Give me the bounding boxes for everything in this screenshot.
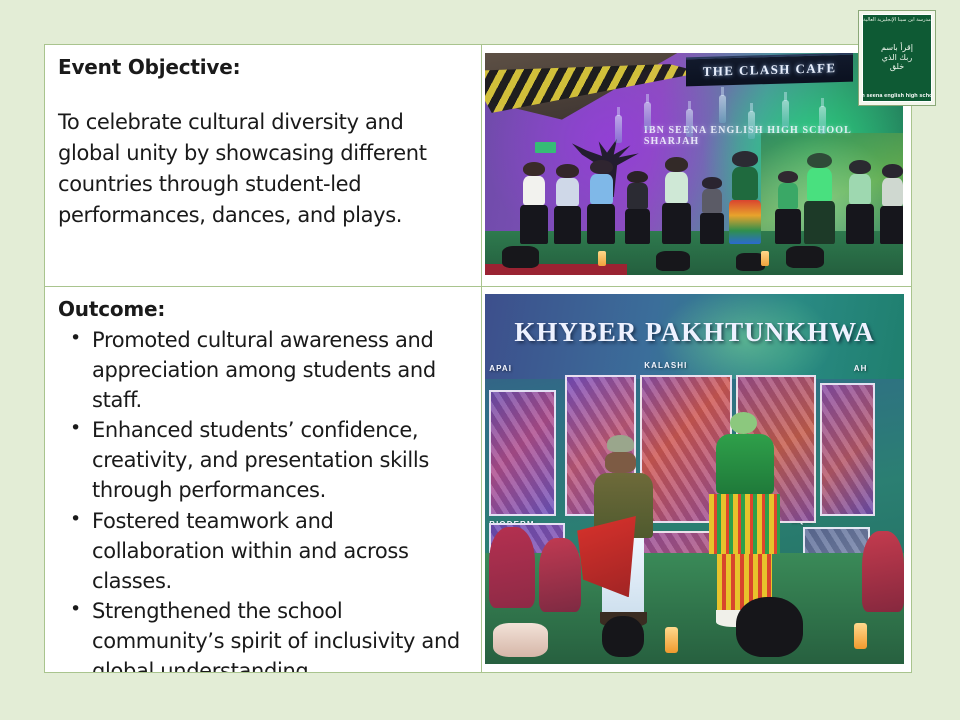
dancer-figure bbox=[702, 177, 721, 244]
candle-prop bbox=[665, 627, 678, 653]
bullet-glyph: • bbox=[70, 415, 81, 442]
dancer-figure bbox=[778, 171, 799, 244]
table-row: Outcome: • Promoted cultural awareness a… bbox=[45, 287, 911, 672]
khyber-pakhtunkhwa-title: KHYBER PAKHTUNKHWA bbox=[485, 309, 904, 357]
school-banner-text: IBN SEENA ENGLISH HIGH SCHOOL SHARJAH bbox=[644, 126, 903, 146]
dancer-figure bbox=[665, 157, 688, 244]
bullet-glyph: • bbox=[70, 325, 81, 352]
seated-performer bbox=[862, 531, 904, 612]
culture-poster bbox=[820, 383, 874, 516]
logo-school-name: Ibn seena english high school bbox=[862, 93, 932, 99]
dancer-figure bbox=[849, 160, 872, 244]
candle-prop bbox=[854, 623, 867, 649]
logo-arabic-emblem: إقرأ باسم ربك الذي خلق bbox=[865, 23, 929, 93]
dancer-figure bbox=[807, 153, 832, 244]
objective-heading: Event Objective: bbox=[58, 55, 469, 80]
display-label: AH bbox=[854, 364, 868, 373]
candle-prop bbox=[598, 251, 606, 266]
girl-dancer-figure bbox=[711, 412, 778, 627]
hanging-bottle-prop bbox=[686, 109, 693, 137]
outcome-text-cell: Outcome: • Promoted cultural awareness a… bbox=[45, 287, 482, 672]
objective-text-cell: Event Objective: To celebrate cultural d… bbox=[45, 45, 482, 286]
stage-light-prop bbox=[502, 246, 540, 268]
candle-prop bbox=[761, 251, 769, 266]
outcome-bullet-list: • Promoted cultural awareness and apprec… bbox=[58, 326, 469, 672]
hanging-bottle-prop bbox=[644, 102, 651, 130]
seated-performer bbox=[489, 527, 535, 608]
list-item: • Fostered teamwork and collaboration wi… bbox=[58, 507, 469, 596]
performance-photo-bottom: KHYBER PAKHTUNKHWA APAI KALASHI TI BIODE… bbox=[485, 294, 904, 664]
objective-body-text: To celebrate cultural diversity and glob… bbox=[58, 107, 469, 230]
logo-arabic-line: إقرأ باسم bbox=[881, 44, 913, 52]
stage-light-prop bbox=[786, 246, 824, 268]
hanging-bottle-prop bbox=[782, 100, 789, 128]
clash-cafe-sign: THE CLASH CAFE bbox=[686, 53, 853, 86]
logo-arabic-line: خلق bbox=[890, 63, 904, 71]
par-stage-light bbox=[602, 616, 644, 657]
school-logo: مدرسة ابن سينا الإنجليزية العالية إقرأ ب… bbox=[858, 10, 936, 106]
seated-performer bbox=[539, 538, 581, 612]
logo-arabic-line: ربك الذي bbox=[882, 54, 913, 62]
logo-plate: مدرسة ابن سينا الإنجليزية العالية إقرأ ب… bbox=[862, 14, 932, 102]
list-item: • Enhanced students’ confidence, creativ… bbox=[58, 416, 469, 505]
hanging-bottle-prop bbox=[615, 115, 622, 143]
list-item-text: Strengthened the school community’s spir… bbox=[92, 599, 460, 672]
dancer-figure bbox=[523, 162, 546, 244]
dancer-figure bbox=[882, 164, 903, 244]
culture-poster bbox=[489, 390, 556, 516]
hanging-bottle-prop bbox=[748, 111, 755, 139]
list-item-text: Promoted cultural awareness and apprecia… bbox=[92, 328, 436, 412]
dancer-figure bbox=[590, 160, 613, 244]
outcome-heading: Outcome: bbox=[58, 297, 469, 322]
hanging-bottle-prop bbox=[719, 95, 726, 123]
display-label: APAI bbox=[489, 364, 512, 373]
dancer-figure bbox=[556, 164, 579, 244]
list-item: • Promoted cultural awareness and apprec… bbox=[58, 326, 469, 415]
table-row: Event Objective: To celebrate cultural d… bbox=[45, 45, 911, 287]
hanging-bottle-prop bbox=[819, 106, 826, 134]
stage-light-prop bbox=[656, 251, 689, 271]
list-item-text: Enhanced students’ confidence, creativit… bbox=[92, 418, 429, 502]
content-table: Event Objective: To celebrate cultural d… bbox=[44, 44, 912, 673]
bullet-glyph: • bbox=[70, 506, 81, 533]
list-item-text: Fostered teamwork and collaboration with… bbox=[92, 509, 409, 593]
dancer-figure bbox=[732, 151, 759, 244]
performance-photo-top: THE CLASH CAFE IBN SEENA ENGLISH HIGH SC… bbox=[485, 53, 903, 275]
dancer-figure bbox=[627, 171, 648, 244]
equipment-prop bbox=[493, 623, 547, 656]
exit-sign-icon bbox=[535, 142, 556, 153]
display-label: KALASHI bbox=[644, 361, 687, 370]
bullet-glyph: • bbox=[70, 596, 81, 623]
outcome-media-cell: KHYBER PAKHTUNKHWA APAI KALASHI TI BIODE… bbox=[482, 287, 911, 672]
objective-media-cell: THE CLASH CAFE IBN SEENA ENGLISH HIGH SC… bbox=[482, 45, 911, 286]
list-item: • Strengthened the school community’s sp… bbox=[58, 597, 469, 672]
par-stage-light bbox=[736, 597, 803, 656]
